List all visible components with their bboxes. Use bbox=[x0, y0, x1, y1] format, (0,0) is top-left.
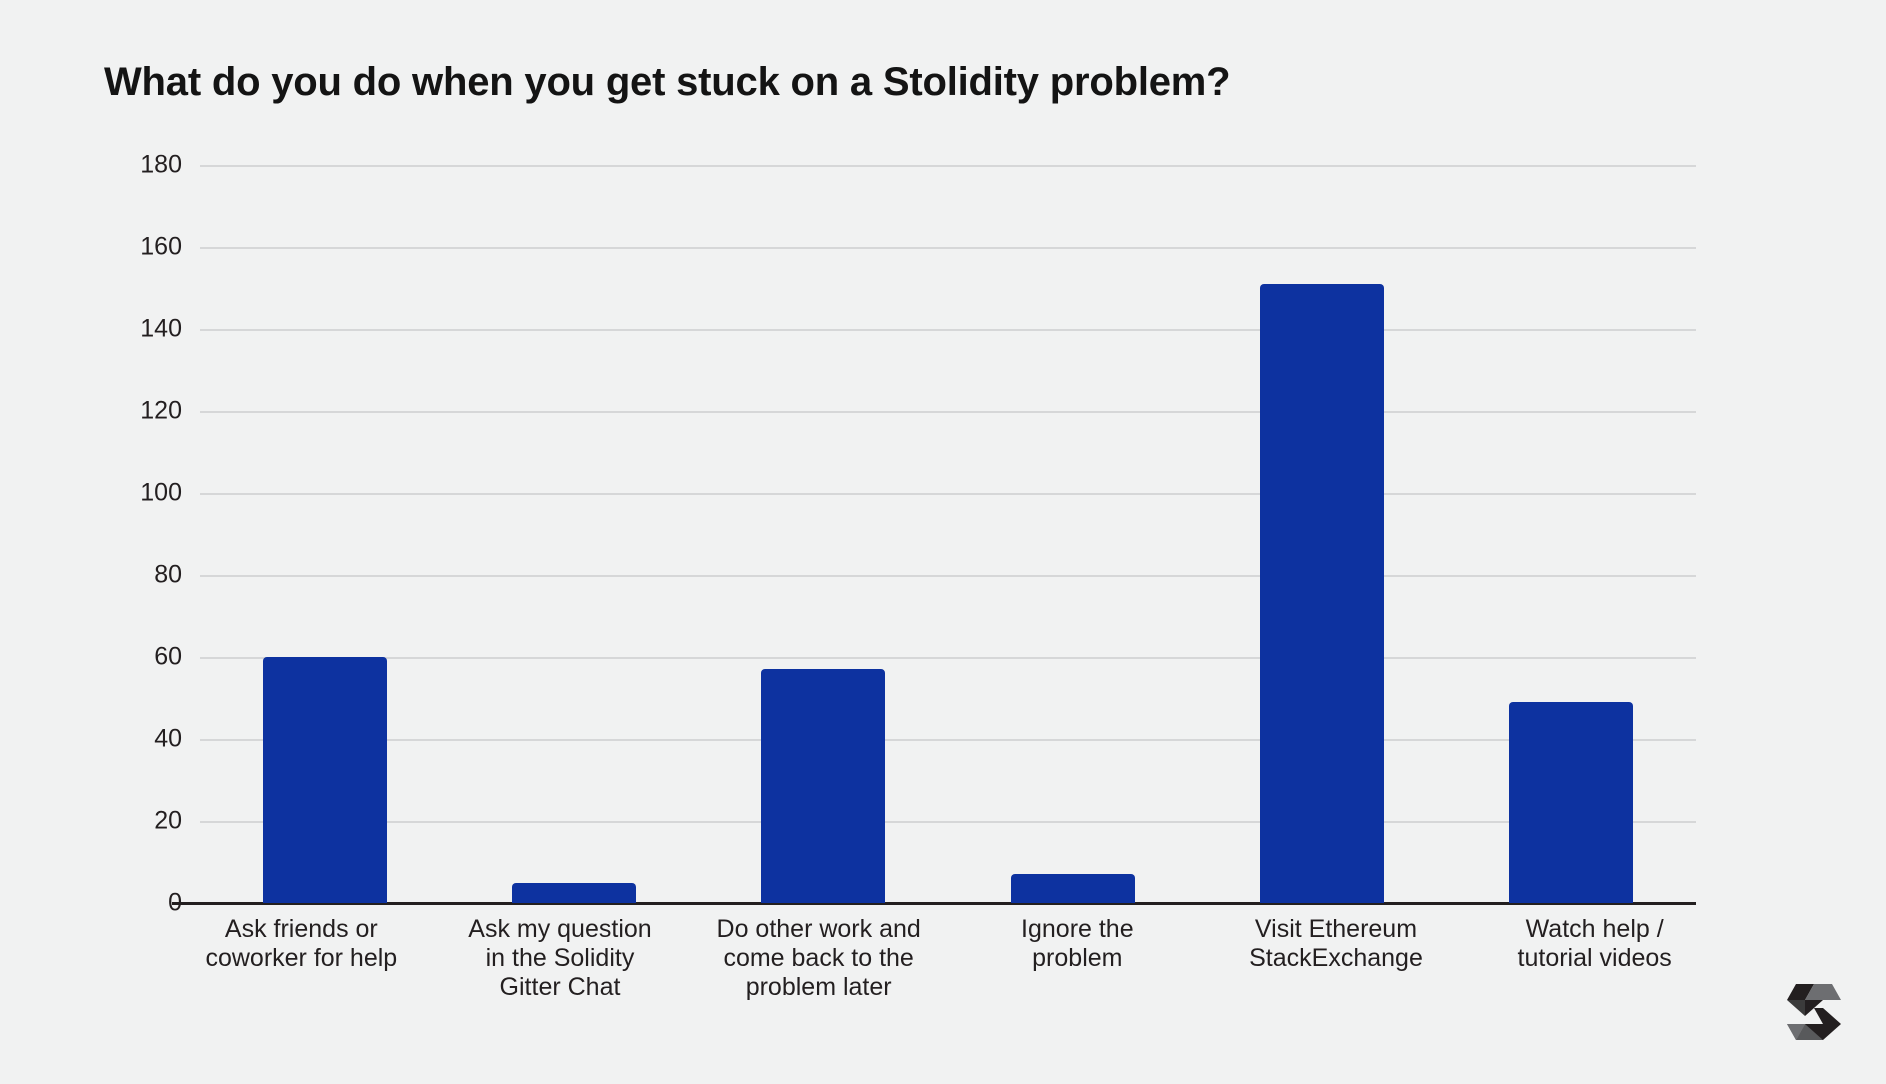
x-axis-tick-label: Ask my questionin the SolidityGitter Cha… bbox=[431, 915, 690, 1002]
gridline bbox=[200, 657, 1696, 659]
gridline bbox=[200, 493, 1696, 495]
y-axis-tick-label: 60 bbox=[154, 643, 182, 672]
y-axis-tick-label: 40 bbox=[154, 725, 182, 754]
x-axis-tick-label: Ignore theproblem bbox=[948, 915, 1207, 973]
gridline bbox=[200, 329, 1696, 331]
x-axis-tick-label: Ask friends orcoworker for help bbox=[172, 915, 431, 973]
y-axis-tick-label: 180 bbox=[140, 151, 182, 180]
y-axis-tick-label: 140 bbox=[140, 315, 182, 344]
gridline bbox=[200, 821, 1696, 823]
bar[interactable] bbox=[1260, 284, 1384, 903]
y-axis-tick-label: 80 bbox=[154, 561, 182, 590]
bar[interactable] bbox=[1509, 702, 1633, 903]
page-title: What do you do when you get stuck on a S… bbox=[104, 60, 1230, 105]
x-axis: Ask friends orcoworker for helpAsk my qu… bbox=[172, 915, 1724, 1045]
bar[interactable] bbox=[263, 657, 387, 903]
x-axis-line bbox=[172, 902, 1696, 905]
bar[interactable] bbox=[761, 669, 885, 903]
bar[interactable] bbox=[1011, 874, 1135, 903]
y-axis-tick-label: 100 bbox=[140, 479, 182, 508]
x-axis-tick-label: Watch help /tutorial videos bbox=[1465, 915, 1724, 973]
plot-area bbox=[200, 165, 1696, 903]
gridline bbox=[200, 739, 1696, 741]
y-axis-tick-label: 120 bbox=[140, 397, 182, 426]
x-axis-tick-label: Do other work andcome back to theproblem… bbox=[689, 915, 948, 1002]
y-axis-tick-label: 20 bbox=[154, 807, 182, 836]
gridline bbox=[200, 411, 1696, 413]
gridline bbox=[200, 575, 1696, 577]
y-axis-tick-label: 160 bbox=[140, 233, 182, 262]
bar[interactable] bbox=[512, 883, 636, 904]
gridline bbox=[200, 247, 1696, 249]
y-axis: 020406080100120140160180 bbox=[104, 165, 182, 903]
x-axis-tick-label: Visit EthereumStackExchange bbox=[1207, 915, 1466, 973]
gridline bbox=[200, 165, 1696, 167]
solidity-logo bbox=[1778, 968, 1850, 1056]
